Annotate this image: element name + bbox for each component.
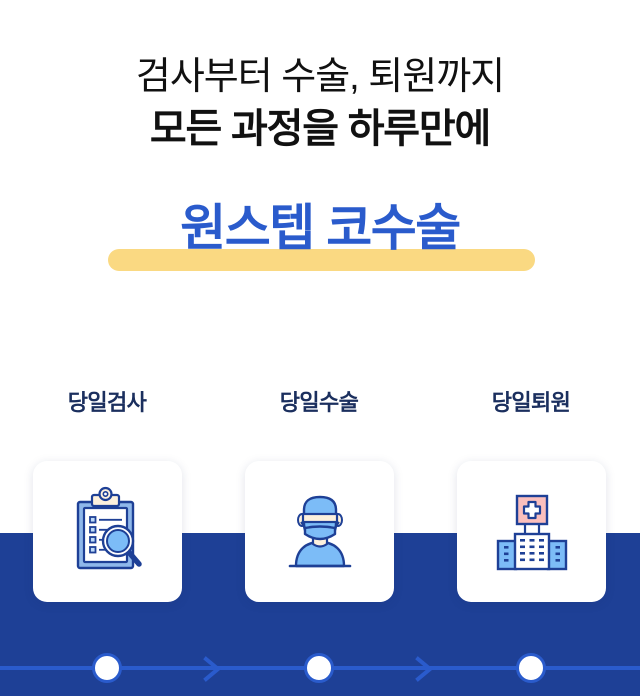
- clipboard-search-icon: [60, 484, 156, 580]
- infographic-page: 검사부터 수술, 퇴원까지 모든 과정을 하루만에 원스텝 코수술 당일검사 당…: [0, 0, 640, 696]
- title-block: 원스텝 코수술: [0, 190, 640, 280]
- hospital-icon: [484, 484, 580, 580]
- timeline: [0, 320, 640, 380]
- step-label-2: 당일수술: [213, 388, 425, 418]
- headline: 검사부터 수술, 퇴원까지 모든 과정을 하루만에: [0, 52, 640, 156]
- timeline-node-3: [516, 653, 546, 683]
- card-step-1: [33, 461, 182, 602]
- chevron-right-icon: [415, 656, 433, 682]
- step-label-3: 당일퇴원: [425, 388, 637, 418]
- icon-cards: [0, 461, 640, 603]
- step-labels: 당일검사 당일수술 당일퇴원: [0, 388, 640, 420]
- headline-line-1: 검사부터 수술, 퇴원까지: [0, 52, 640, 102]
- timeline-node-2: [304, 653, 334, 683]
- headline-line-2: 모든 과정을 하루만에: [0, 102, 640, 156]
- chevron-right-icon: [203, 656, 221, 682]
- step-label-1: 당일검사: [1, 388, 213, 418]
- page-title: 원스텝 코수술: [180, 190, 459, 266]
- surgeon-icon: [272, 484, 368, 580]
- timeline-node-1: [92, 653, 122, 683]
- card-step-2: [245, 461, 394, 602]
- card-step-3: [457, 461, 606, 602]
